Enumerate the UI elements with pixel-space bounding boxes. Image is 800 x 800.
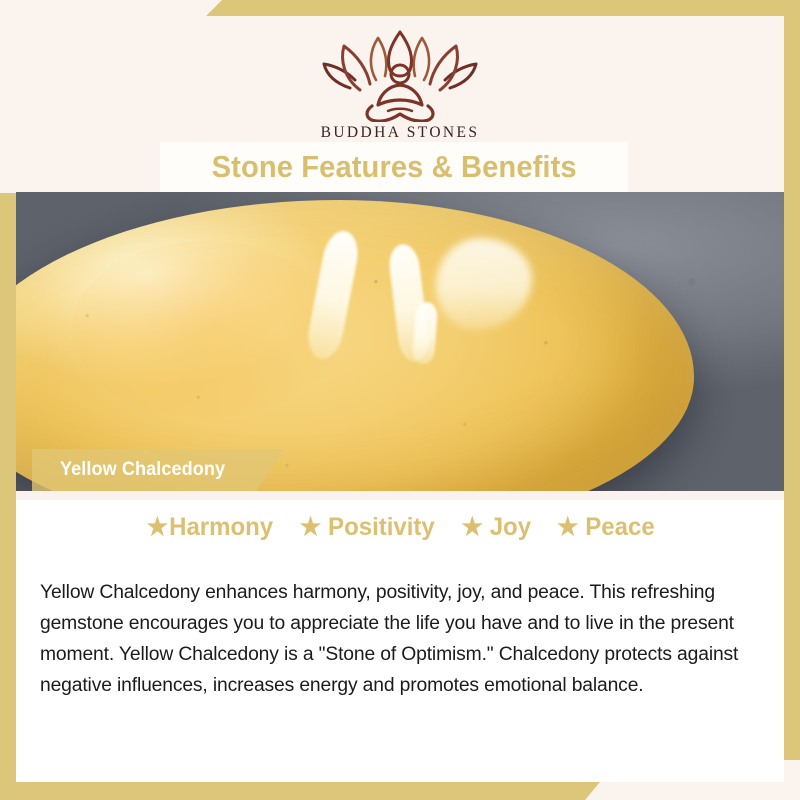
brand-header: BUDDHA STONES [16,16,784,142]
keyword-item-peace: ★ Peace [557,513,655,542]
content-top-divider [16,491,784,500]
description-paragraph: Yellow Chalcedony enhances harmony, posi… [40,577,751,701]
brand-name: BUDDHA STONES [16,124,784,142]
keyword-item-joy: ★ Joy [462,513,532,542]
stone-name-label: Yellow Chalcedony [60,459,225,481]
gold-border-right [784,0,800,760]
star-icon: ★ [300,515,322,540]
brand-logo: BUDDHA STONES [16,26,784,142]
lotus-meditation-figure-icon [314,26,486,122]
stone-warm-inclusion [72,241,338,418]
page-title: Stone Features & Benefits [211,149,576,185]
keyword-label: Harmony [169,513,273,542]
keyword-item-positivity: ★ Positivity [300,513,435,542]
gold-border-bottom [0,782,800,800]
gold-border-top [0,0,800,16]
section-title-banner: Stone Features & Benefits [160,142,628,192]
keyword-item-harmony: ★ Harmony [146,513,273,542]
content-panel: ★ Harmony ★ Positivity ★ Joy ★ Peace Yel… [16,491,784,782]
keyword-label: Joy [490,513,531,542]
keyword-label: Positivity [329,513,436,542]
star-icon: ★ [557,515,579,540]
keyword-row: ★ Harmony ★ Positivity ★ Joy ★ Peace [16,513,784,542]
stone-photo: Yellow Chalcedony [16,192,784,491]
keyword-label: Peace [585,513,654,542]
gold-border-left [0,193,16,782]
star-icon: ★ [146,515,168,540]
infographic-page: BUDDHA STONES Stone Features & Benefits … [0,0,800,800]
stone-name-banner: Yellow Chalcedony [32,449,284,491]
star-icon: ★ [462,515,484,540]
